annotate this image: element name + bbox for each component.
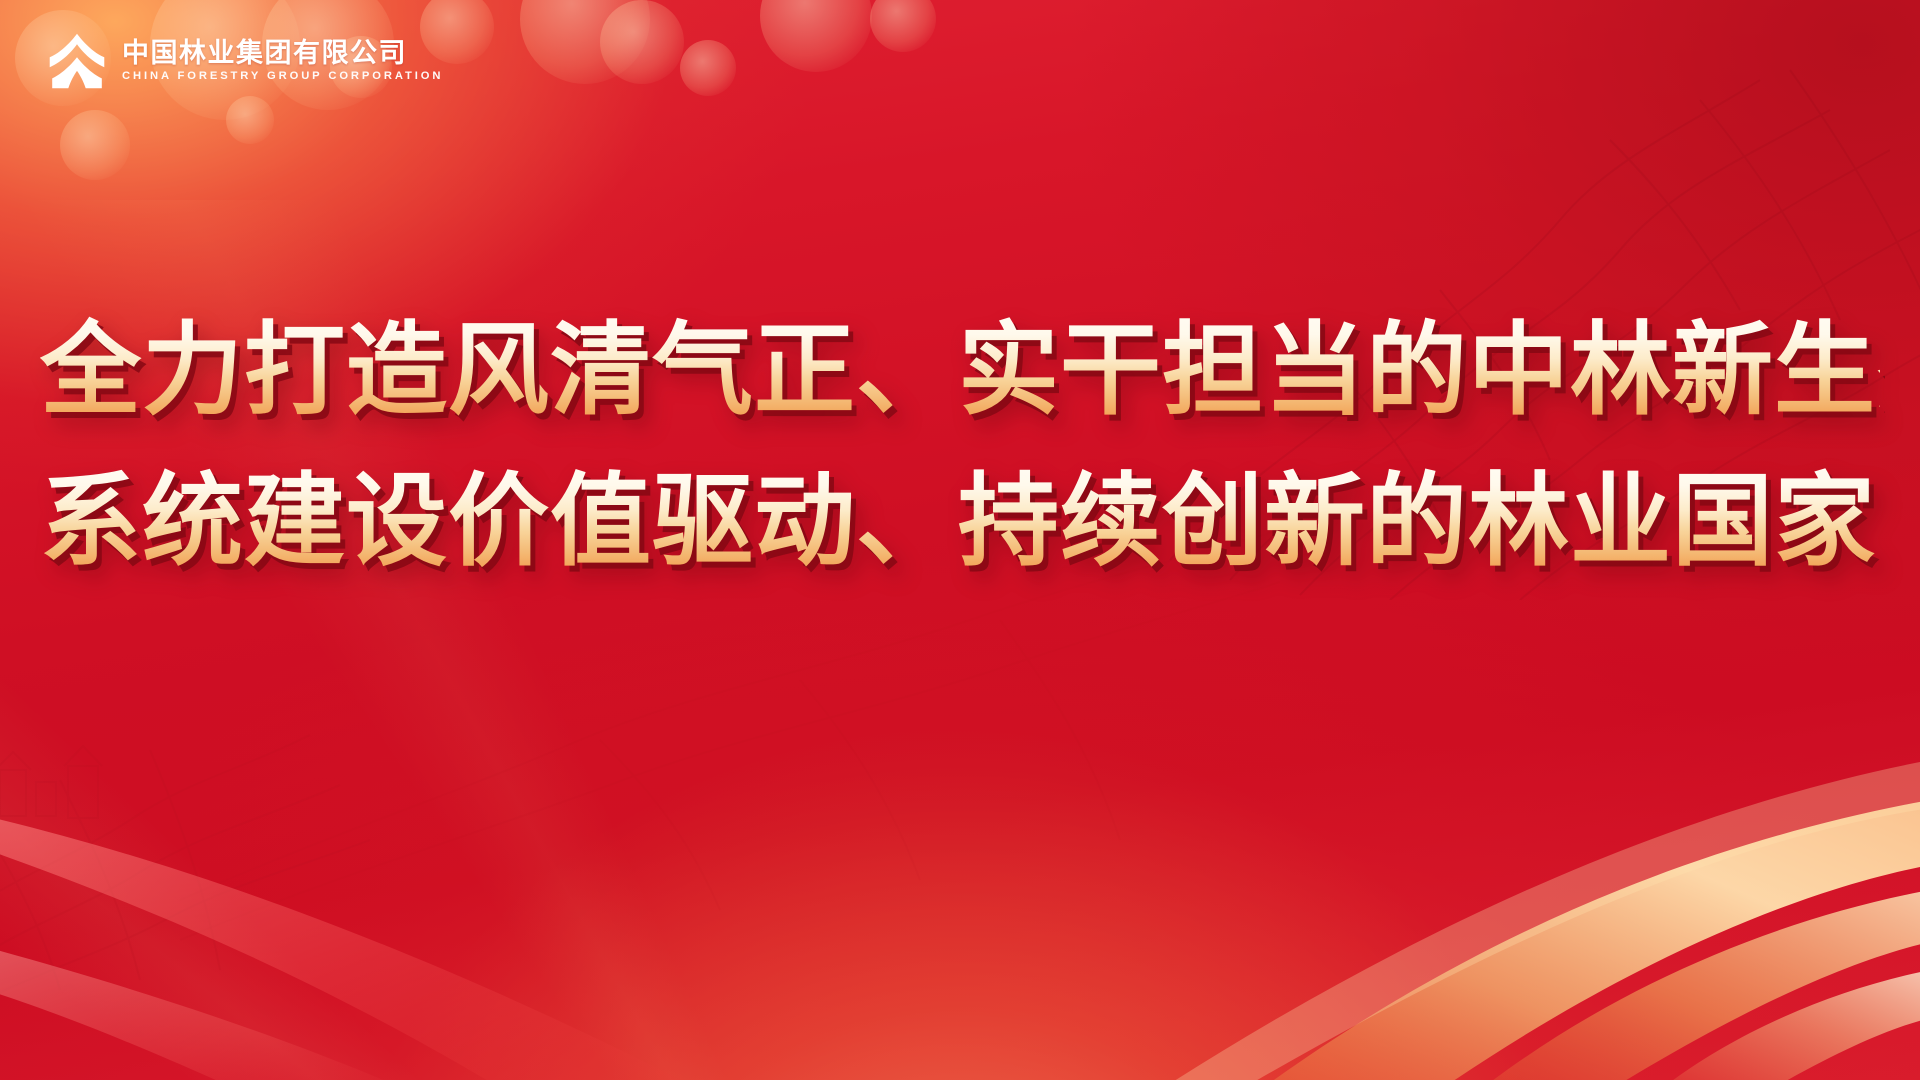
cfgc-pagoda-logo-icon [46,30,108,92]
company-name-cn: 中国林业集团有限公司 [122,39,443,67]
bokeh-circle [600,0,684,84]
bokeh-circle [870,0,936,52]
banner-canvas: 中国林业集团有限公司 CHINA FORESTRY GROUP CORPORAT… [0,0,1920,1080]
bokeh-circle [520,0,650,84]
gold-ribbon-swoosh [1010,760,1920,1080]
bottom-glow [310,720,1610,1080]
logo-text-block: 中国林业集团有限公司 CHINA FORESTRY GROUP CORPORAT… [122,39,443,82]
headline-line-1: 全力打造风清气正、实干担当的中林新生态 [40,305,1880,438]
bokeh-circle [760,0,872,72]
bokeh-circle [60,110,130,180]
headline-block: 全力打造风清气正、实干担当的中林新生态 系统建设价值驱动、持续创新的林业国家队 [0,305,1920,590]
bokeh-circle [680,40,736,96]
company-logo[interactable]: 中国林业集团有限公司 CHINA FORESTRY GROUP CORPORAT… [46,30,443,92]
headline-line-2: 系统建设价值驱动、持续创新的林业国家队 [40,456,1880,589]
mountain-landscape-watermark-left [0,520,700,1040]
company-name-en: CHINA FORESTRY GROUP CORPORATION [122,71,443,83]
light-red-ribbon-swoosh [0,800,720,1080]
bokeh-circle [226,96,274,144]
